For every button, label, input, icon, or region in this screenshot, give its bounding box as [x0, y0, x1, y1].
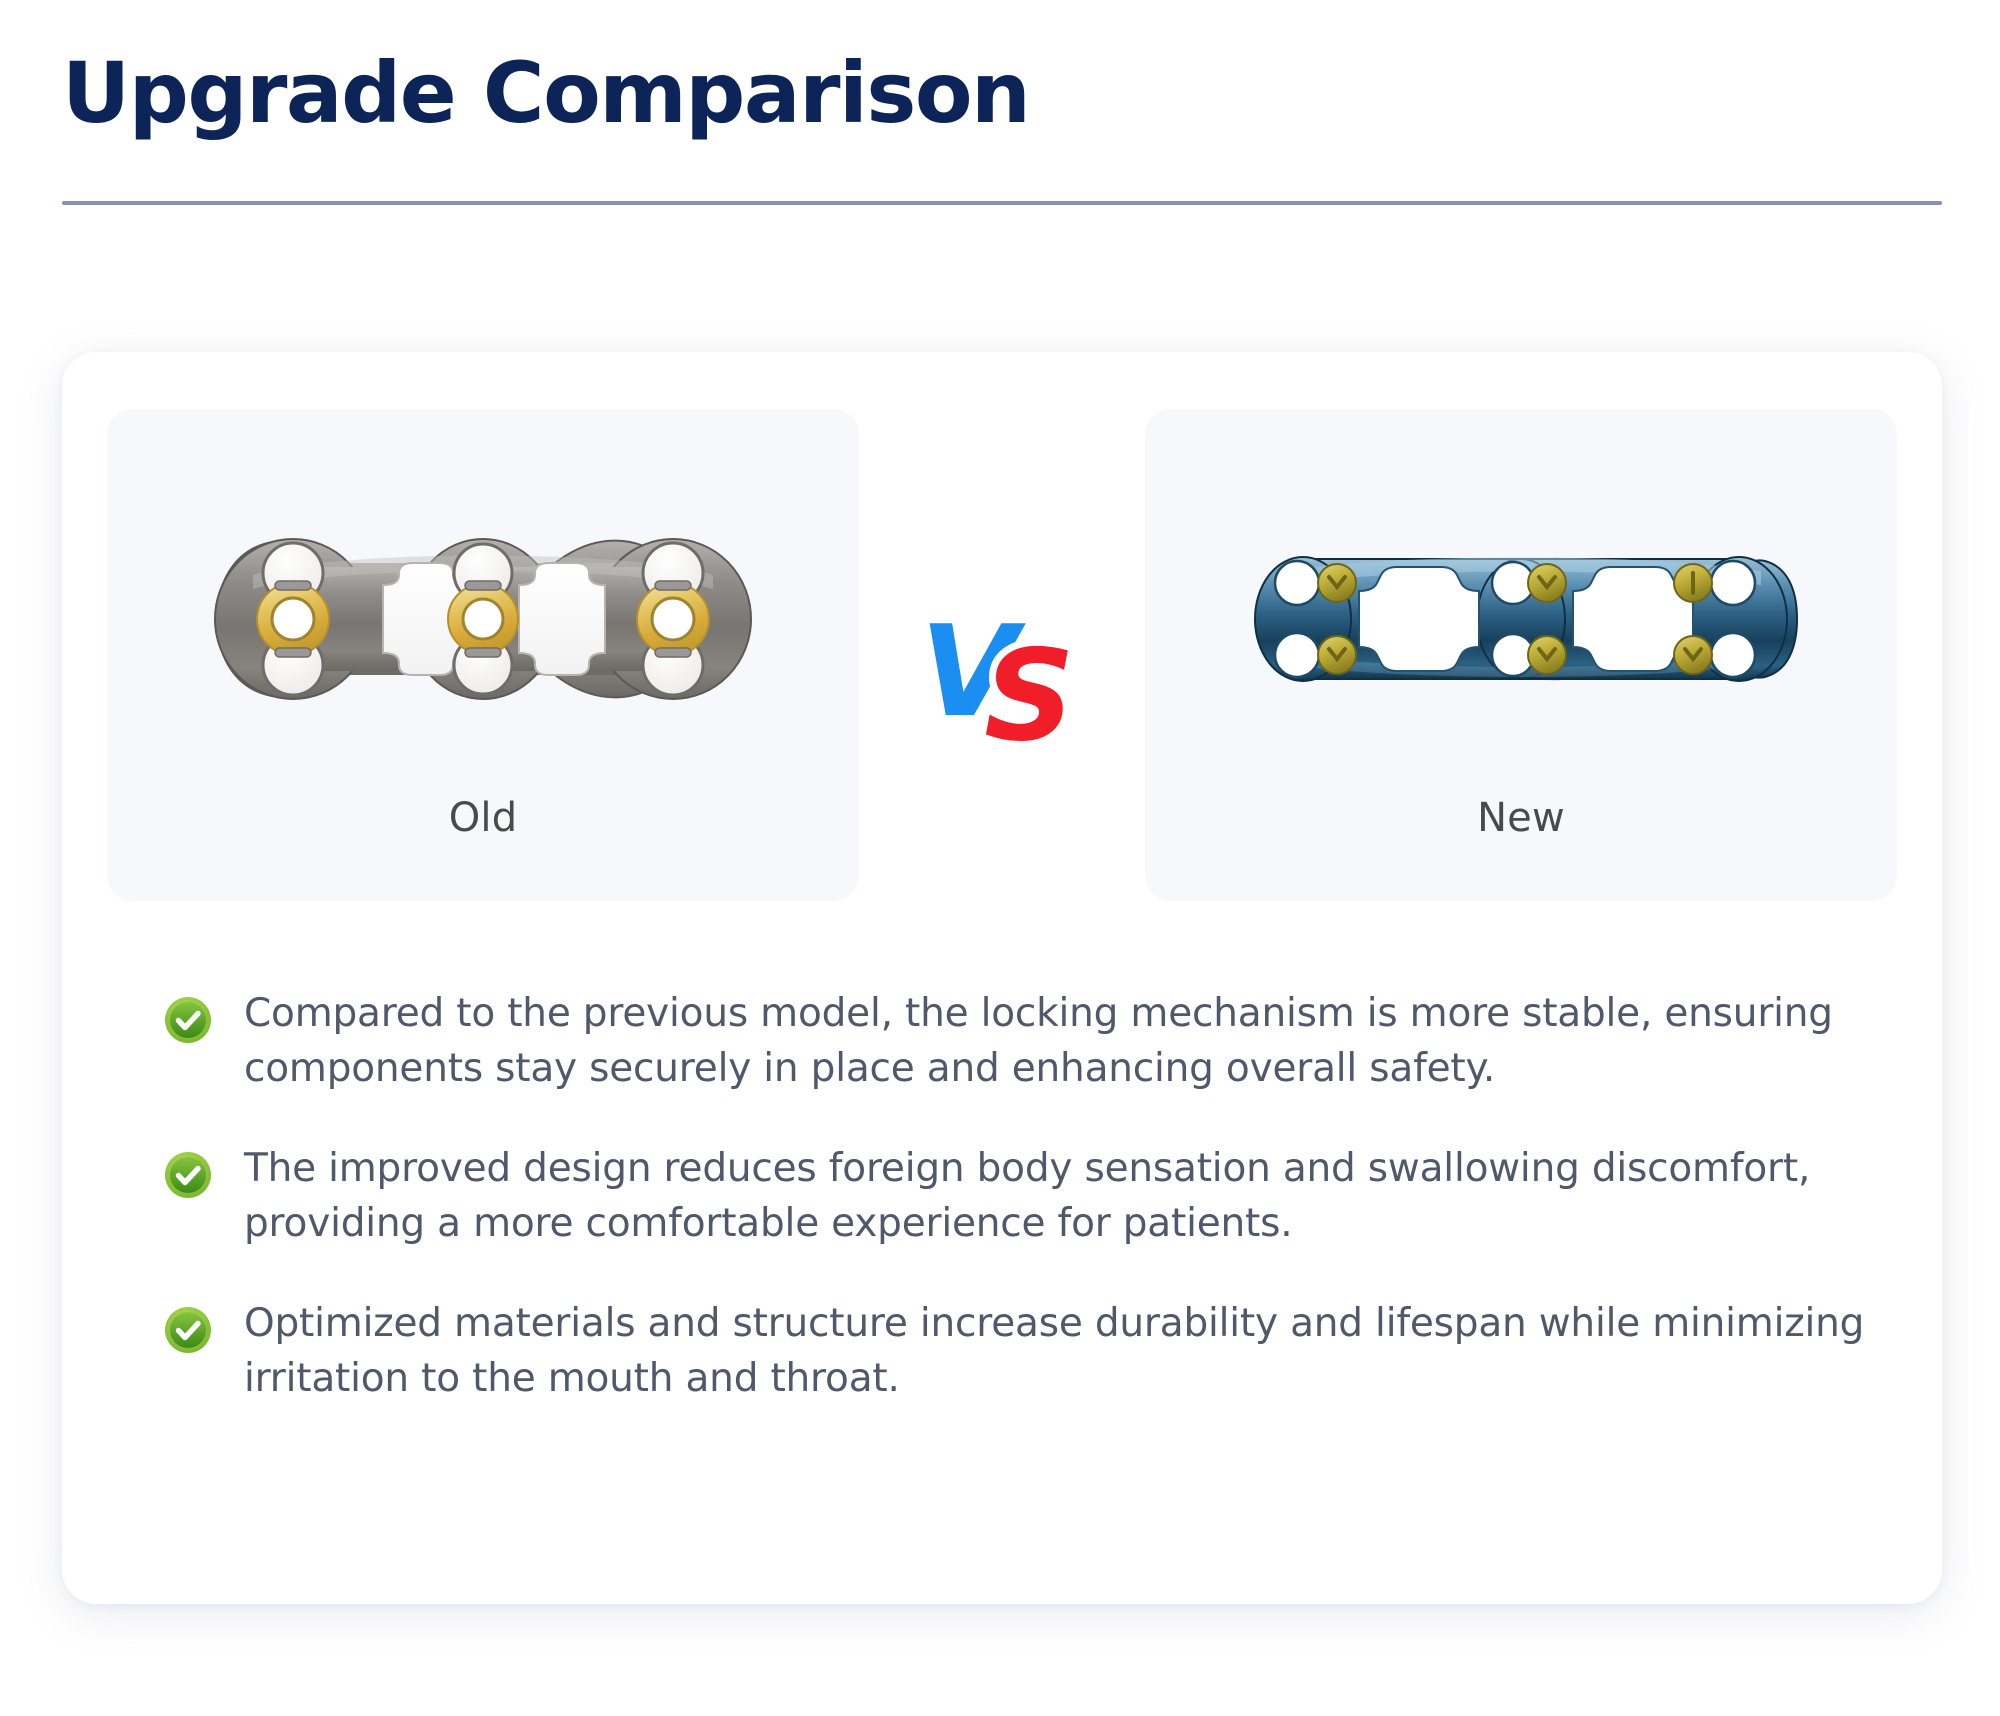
title-divider-rule [62, 201, 1942, 205]
vs-separator: V S S [859, 409, 1145, 901]
cervical-plate-old-icon [183, 489, 783, 749]
new-plate-media [1201, 469, 1841, 769]
benefits-list: Compared to the previous model, the lock… [164, 986, 1876, 1406]
vs-letter-s: S [984, 622, 1075, 753]
comparison-card-old[interactable]: Old [107, 409, 859, 901]
benefit-text: Compared to the previous model, the lock… [244, 986, 1876, 1097]
cervical-plate-new-icon [1241, 519, 1801, 719]
benefit-text: The improved design reduces foreign body… [244, 1141, 1876, 1252]
benefit-item: Optimized materials and structure increa… [164, 1296, 1876, 1407]
header: Upgrade Comparison [62, 48, 1942, 205]
card-label-old: Old [449, 795, 518, 841]
card-label-new: New [1477, 795, 1565, 841]
content-panel: Old V S S [62, 352, 1942, 1604]
green-check-circle-icon [164, 1306, 212, 1354]
old-plate-media [163, 469, 803, 769]
vs-badge-icon: V S S [912, 593, 1092, 753]
benefit-item: The improved design reduces foreign body… [164, 1141, 1876, 1252]
green-check-circle-icon [164, 996, 212, 1044]
benefit-text: Optimized materials and structure increa… [244, 1296, 1876, 1407]
comparison-card-new[interactable]: New [1145, 409, 1897, 901]
page-title: Upgrade Comparison [62, 48, 1942, 139]
slide-root: Upgrade Comparison [0, 0, 2000, 1716]
comparison-row: Old V S S [62, 404, 1942, 906]
benefit-item: Compared to the previous model, the lock… [164, 986, 1876, 1097]
green-check-circle-icon [164, 1151, 212, 1199]
